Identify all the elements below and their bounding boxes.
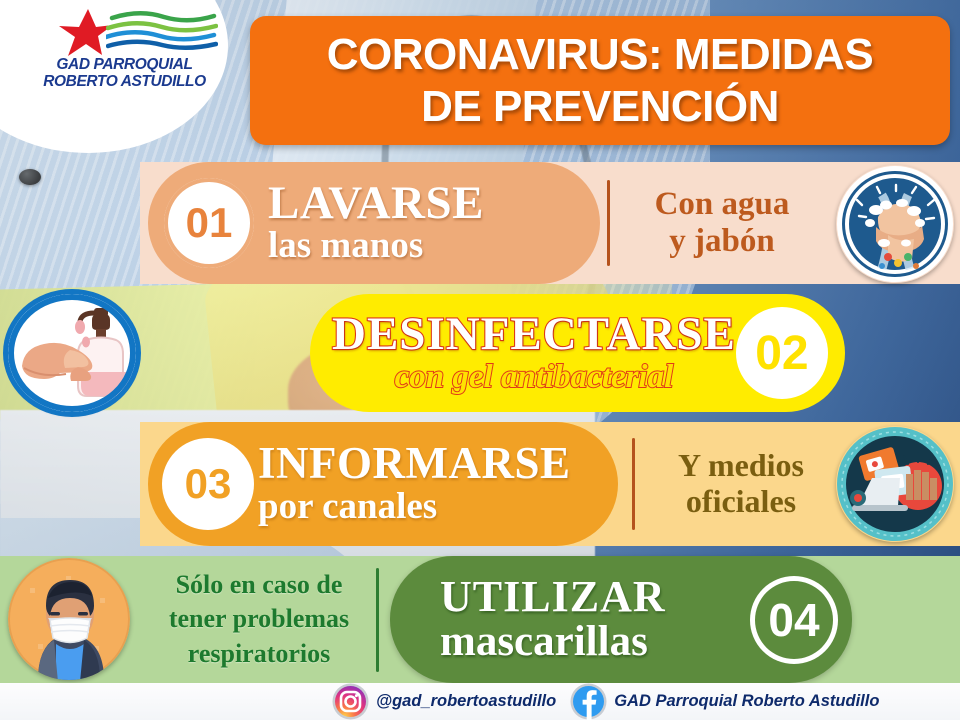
page-title-banner: CORONAVIRUS: MEDIDAS DE PREVENCIÓN — [250, 16, 950, 145]
page-title-line-2: DE PREVENCIÓN — [421, 81, 779, 133]
step-number-01: 01 — [164, 178, 254, 268]
step-side-line: Sólo en caso de — [176, 568, 343, 602]
step-row-02: DESINFECTARSE con gel antibacterial 02 — [0, 294, 960, 412]
step-number-03: 03 — [162, 438, 254, 530]
step-side-line: Con agua — [655, 186, 790, 223]
step-row-03: 03 INFORMARSE por canales Y medios ofici… — [0, 422, 960, 546]
organization-logo: GAD PARROQUIAL ROBERTO ASTUDILLO — [0, 0, 250, 150]
step-text-04: UTILIZAR mascarillas — [440, 575, 750, 665]
step-divider — [607, 180, 610, 266]
step-title-04: UTILIZAR — [440, 575, 750, 619]
facebook-page-name[interactable]: GAD Parroquial Roberto Astudillo — [614, 692, 879, 711]
step-pill: DESINFECTARSE con gel antibacterial 02 — [310, 294, 845, 412]
handwashing-icon — [836, 165, 954, 283]
hand-sanitizer-icon — [8, 294, 136, 412]
step-pill: 03 INFORMARSE por canales — [148, 422, 618, 546]
step-subtitle-03: por canales — [258, 486, 571, 527]
step-pill: UTILIZAR mascarillas 04 — [390, 556, 852, 683]
step-side-line: tener problemas — [169, 602, 349, 636]
step-subtitle-01: las manos — [268, 226, 484, 266]
step-title-01: LAVARSE — [268, 180, 484, 226]
instagram-icon[interactable] — [332, 683, 369, 720]
step-subtitle-04: mascarillas — [440, 619, 750, 665]
page-title-line-1: CORONAVIRUS: MEDIDAS — [327, 29, 874, 81]
step-side-line: oficiales — [686, 484, 796, 520]
laptop-news-icon — [836, 426, 954, 542]
instagram-handle[interactable]: @gad_robertoastudillo — [376, 692, 556, 711]
instagram-link[interactable]: @gad_robertoastudillo — [332, 683, 556, 720]
step-side-text-01: Con agua y jabón — [622, 162, 822, 284]
step-row-04: Sólo en caso de tener problemas respirat… — [0, 556, 960, 683]
logo-line-1: GAD PARROQUIAL — [22, 56, 227, 73]
step-side-text-04: Sólo en caso de tener problemas respirat… — [140, 556, 378, 683]
step-title-03: INFORMARSE — [258, 441, 571, 486]
step-divider — [376, 568, 379, 672]
step-side-line: y jabón — [669, 223, 774, 260]
step-title-02: DESINFECTARSE — [332, 311, 736, 358]
step-side-line: Y medios — [678, 448, 804, 484]
step-subtitle-02: con gel antibacterial — [395, 358, 674, 396]
person-mask-icon — [8, 558, 130, 680]
step-number-02: 02 — [736, 307, 828, 399]
step-row-01: 01 LAVARSE las manos Con agua y jabón — [0, 162, 960, 284]
step-text-01: LAVARSE las manos — [268, 180, 484, 266]
step-pill: 01 LAVARSE las manos — [148, 162, 600, 284]
step-text-02: DESINFECTARSE con gel antibacterial — [332, 311, 736, 396]
logo-text: GAD PARROQUIAL ROBERTO ASTUDILLO — [22, 56, 227, 90]
step-text-03: INFORMARSE por canales — [258, 441, 571, 527]
step-side-text-03: Y medios oficiales — [646, 422, 836, 546]
footer-social-bar: @gad_robertoastudillo GAD Parroquial Rob… — [0, 683, 960, 720]
facebook-icon[interactable] — [570, 683, 607, 720]
step-number-04: 04 — [750, 576, 838, 664]
logo-line-2: ROBERTO ASTUDILLO — [22, 73, 227, 90]
facebook-link[interactable]: GAD Parroquial Roberto Astudillo — [570, 683, 879, 720]
step-divider — [632, 438, 635, 530]
step-side-line: respiratorios — [188, 637, 331, 671]
waves-icon — [106, 10, 218, 52]
